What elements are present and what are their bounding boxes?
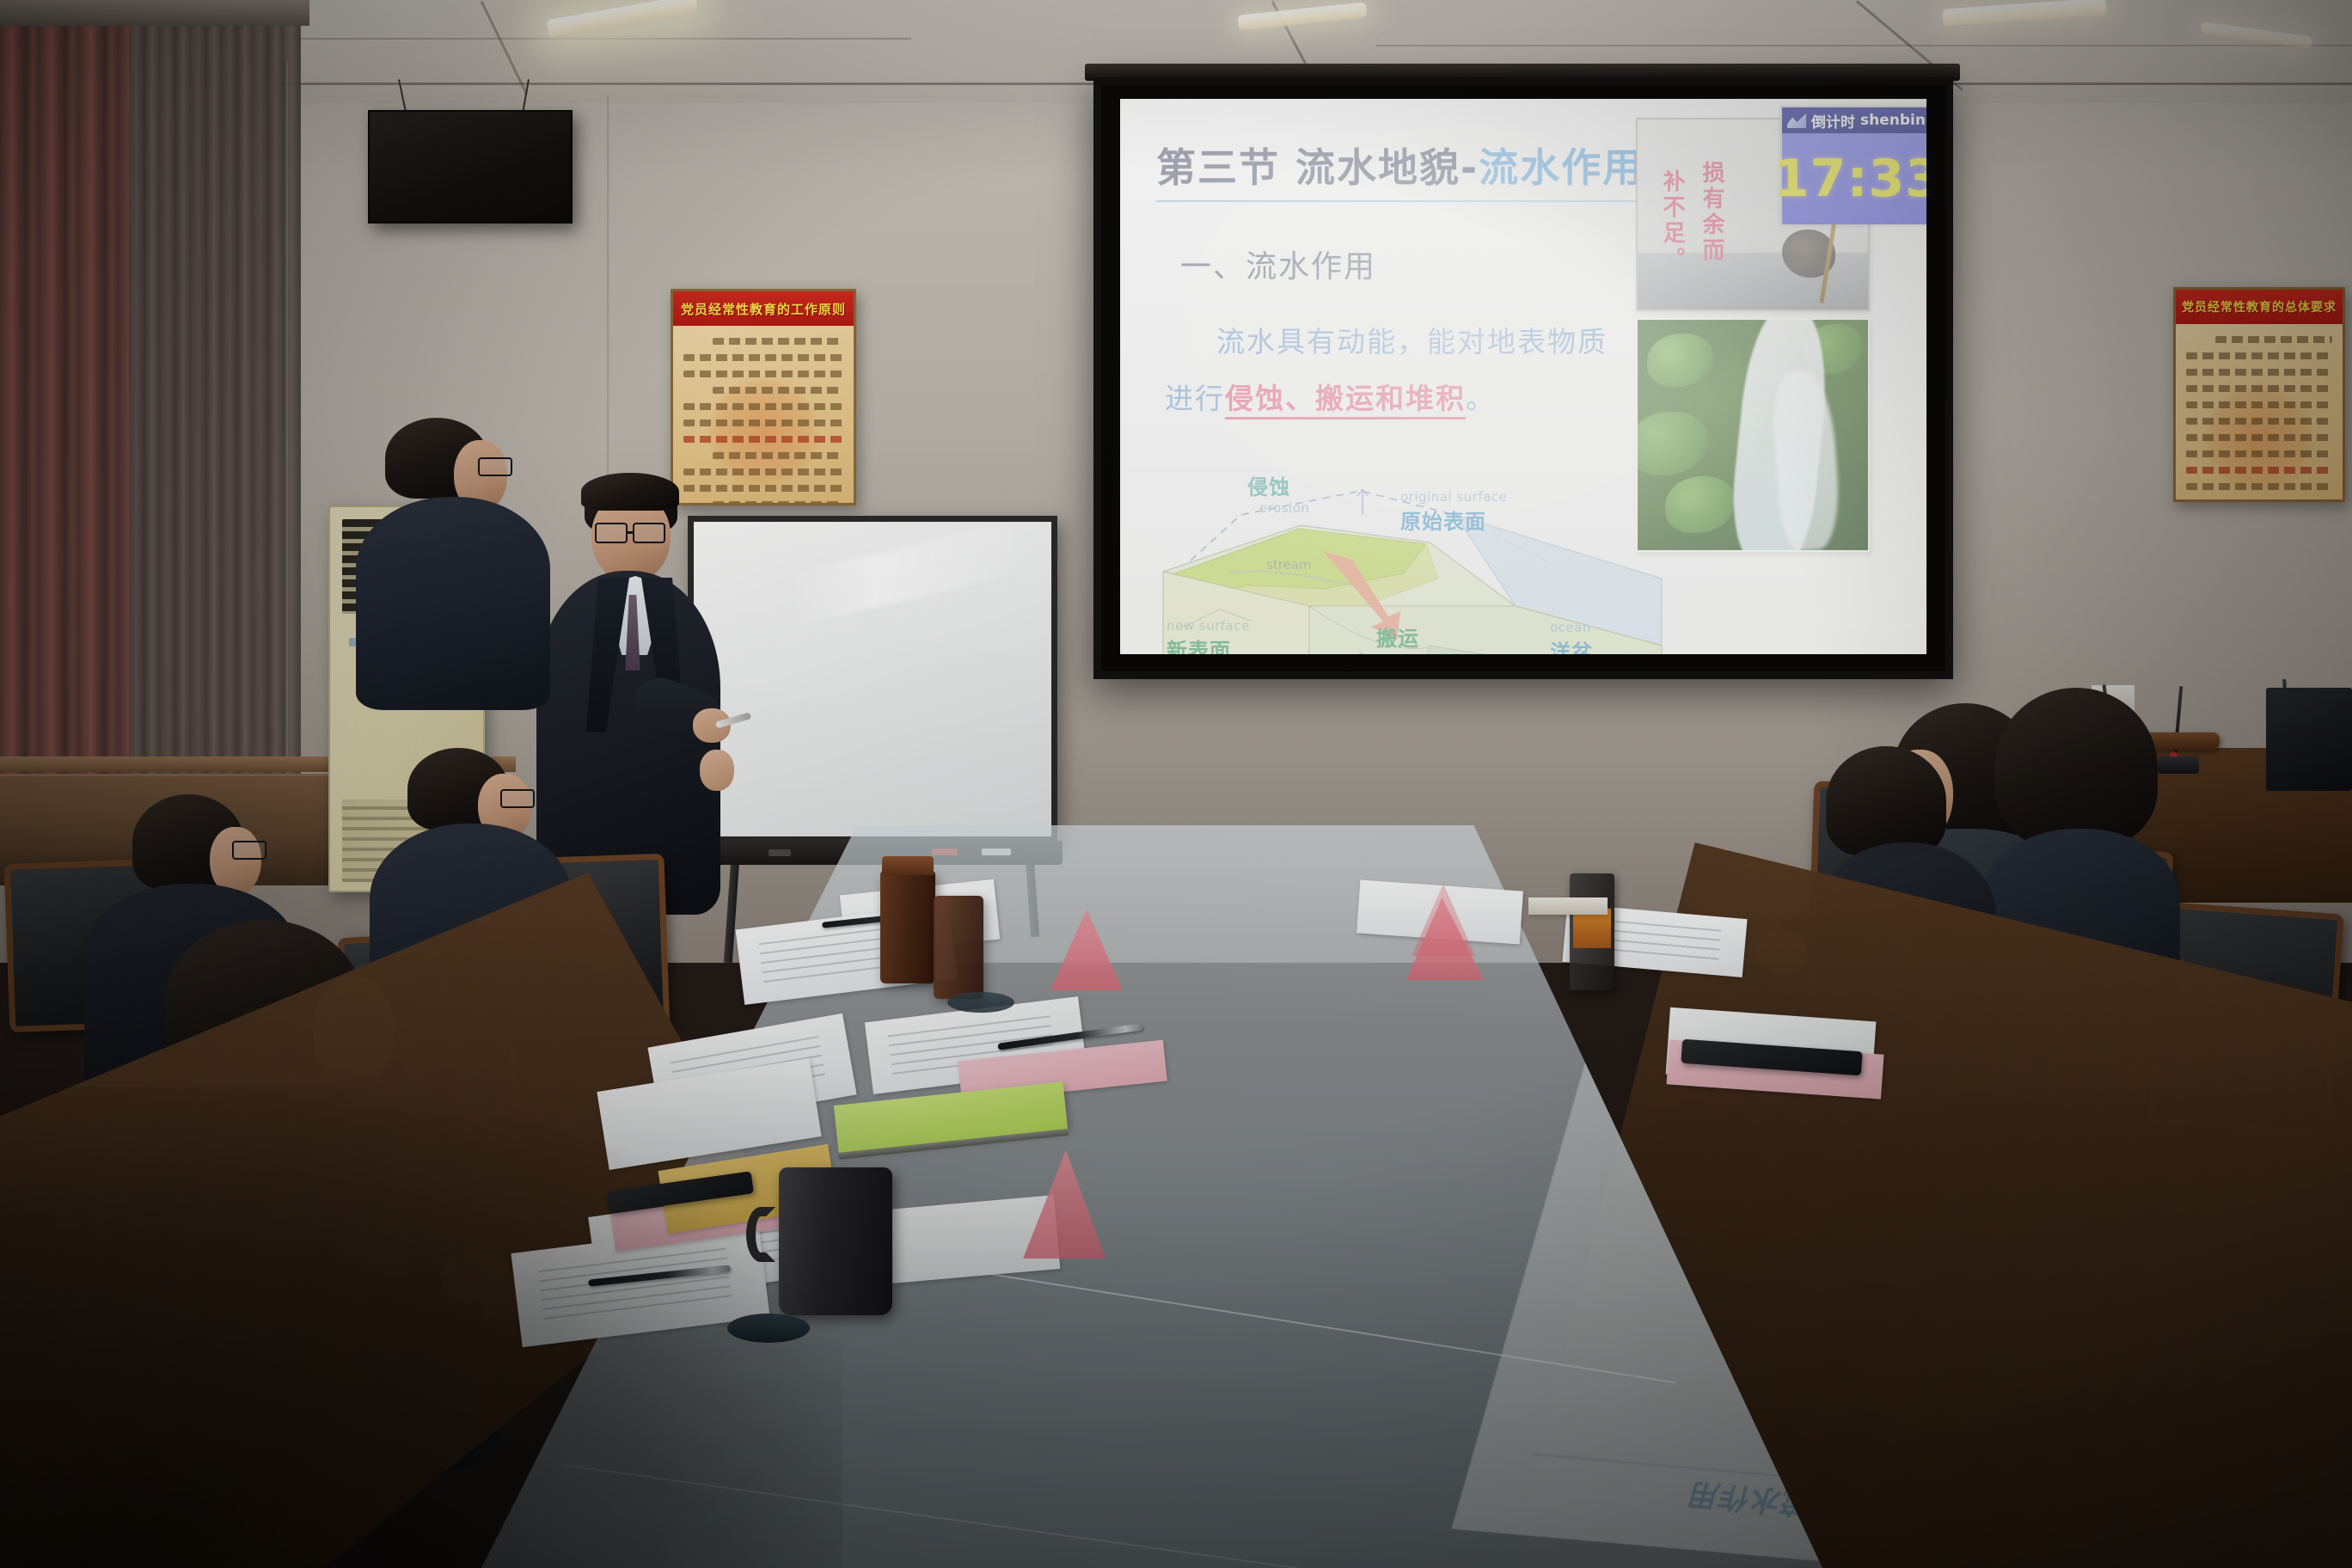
poster-text-line <box>2186 385 2332 392</box>
poster-text-line <box>2186 450 2332 457</box>
poster-text-line <box>713 452 843 459</box>
poster-text-line <box>713 338 843 345</box>
diagram-label-ocean: ocean 洋盆 <box>1550 620 1593 654</box>
wall-speaker <box>368 110 573 224</box>
poster-text-line <box>683 436 843 443</box>
label-en: new surface <box>1167 618 1250 634</box>
foliage <box>1665 476 1736 533</box>
countdown-timer-widget[interactable]: 倒计时 shenbing 17:33 <box>1780 106 1926 223</box>
slide-subheading: 一、流水作用 <box>1180 242 1376 286</box>
diagram-label-transport: 搬运 <box>1376 622 1419 652</box>
cup-lid[interactable] <box>947 992 1014 1013</box>
av-monitor <box>2266 688 2352 791</box>
whiteboard-glare <box>791 522 1032 624</box>
teacup[interactable] <box>1528 897 1608 915</box>
brown-thermos[interactable] <box>880 870 935 983</box>
poster-text-line <box>2186 483 2332 490</box>
attendee-hair-long <box>1994 688 2158 848</box>
poster-text-line <box>2186 434 2332 441</box>
glasses-bridge <box>628 531 634 534</box>
label-en: erosion <box>1247 500 1309 516</box>
label-en: ocean <box>1550 620 1593 635</box>
diagram-label-new-surface: new surface 新表面 <box>1167 618 1250 654</box>
slide-body-line-1: 流水具有动能，能对地表物质 <box>1165 314 1608 371</box>
poster-header: 党员经常性教育的总体要求 <box>2176 290 2343 324</box>
poster-text-line <box>2186 499 2332 502</box>
slide-body-line-2: 进行侵蚀、搬运和堆积。 <box>1165 382 1496 420</box>
fluvial-process-block-diagram: 侵蚀 erosion original surface 原始表面 stream … <box>1146 477 1679 654</box>
projection-screen: 第三节 流水地貌-流水作用 一、流水作用 流水具有动能，能对地表物质 进行侵蚀、… <box>1093 77 1953 679</box>
slide-title: 第三节 流水地貌-流水作用 <box>1156 137 1644 193</box>
poster-right-title: 党员经常性教育的总体要求 <box>2182 298 2337 315</box>
calligraphy-column-1: 补不足。 <box>1657 169 1688 290</box>
wall-poster-right: 党员经常性教育的总体要求 <box>2173 287 2345 502</box>
poster-body <box>2176 324 2343 502</box>
wall-poster-left: 党员经常性教育的工作原则 <box>671 289 856 505</box>
presenter-hand-left <box>700 750 734 791</box>
table-panel-seam <box>561 1464 1757 1568</box>
conference-table: 第三节 流水地貌-流水作用 一、流水作用 流水具有动能，能对地表物质 进行侵蚀、… <box>0 825 2352 1568</box>
label-cn: 洋盆 <box>1550 635 1593 654</box>
diagram-label-stream: stream <box>1266 556 1312 573</box>
poster-text-line <box>2215 336 2332 343</box>
attendee-glasses <box>478 457 512 476</box>
label-cn: 侵蚀 <box>1247 470 1309 500</box>
attendee-glasses <box>500 789 535 808</box>
black-mug[interactable] <box>779 1167 892 1315</box>
poster-text-line <box>683 371 843 377</box>
poster-text-line <box>683 403 843 410</box>
slide-body-text: 流水具有动能，能对地表物质 进行侵蚀、搬运和堆积。 <box>1165 314 1608 427</box>
thermos-cap <box>882 856 934 875</box>
label-cn: 新表面 <box>1167 634 1250 654</box>
label-cn: 搬运 <box>1376 622 1419 652</box>
mug-handle <box>746 1207 775 1262</box>
poster-text-line <box>713 387 843 394</box>
mountain-icon <box>1787 113 1806 128</box>
poster-text-line <box>2186 352 2332 359</box>
poster-text-line <box>683 420 843 426</box>
ceiling-tile-seam <box>1375 45 2352 46</box>
water-bottle[interactable] <box>1570 873 1614 990</box>
label-en: stream <box>1266 557 1312 573</box>
poster-text-line <box>2186 369 2332 376</box>
poster-text-line <box>683 354 843 361</box>
attendee-torso <box>356 497 550 710</box>
label-cn: 原始表面 <box>1400 505 1507 535</box>
presenter-glasses-left <box>595 523 628 543</box>
poster-text-line <box>2186 467 2332 474</box>
timer-title: 倒计时 <box>1811 110 1855 132</box>
mug-lid[interactable] <box>727 1314 810 1343</box>
foliage <box>1647 334 1714 387</box>
timer-title-bar: 倒计时 shenbing <box>1782 107 1926 133</box>
foliage <box>1636 412 1709 475</box>
timer-title-latin: shenbing <box>1860 112 1926 129</box>
presenter-hair-top <box>581 473 679 511</box>
curtain-rail <box>0 0 309 26</box>
brown-thermos-2[interactable] <box>934 896 983 999</box>
slide-title-dark: 第三节 流水地貌- <box>1156 144 1479 191</box>
poster-text-line <box>2186 418 2332 425</box>
body-suffix: 。 <box>1466 382 1496 415</box>
presenter-glasses-right <box>633 523 665 543</box>
diagram-label-original-surface: original surface 原始表面 <box>1400 489 1507 535</box>
body-highlight: 侵蚀、搬运和堆积 <box>1225 382 1466 420</box>
diagram-label-erosion: 侵蚀 erosion <box>1247 470 1309 516</box>
poster-left-title: 党员经常性教育的工作原则 <box>681 300 846 318</box>
attendee-left-3 <box>361 418 559 701</box>
calligraphy-column-2: 损有余而 <box>1696 161 1728 290</box>
slide-surface: 第三节 流水地貌-流水作用 一、流水作用 流水具有动能，能对地表物质 进行侵蚀、… <box>1120 99 1926 654</box>
window-curtain-sheer <box>129 0 301 799</box>
wall-corner <box>284 62 288 801</box>
slide-title-blue: 流水作用 <box>1479 144 1644 191</box>
poster-header: 党员经常性教育的工作原则 <box>673 291 854 326</box>
poster-text-line <box>2186 401 2332 408</box>
room-photo-scene: 党员经常性教育的工作原则 党员经常性教育的总体要求 <box>0 0 2352 1568</box>
timer-value: 17:33 <box>1782 133 1926 224</box>
body-prefix: 进行 <box>1165 382 1225 415</box>
slide-inset-waterfall-photo <box>1636 318 1870 552</box>
label-en: original surface <box>1400 489 1507 505</box>
